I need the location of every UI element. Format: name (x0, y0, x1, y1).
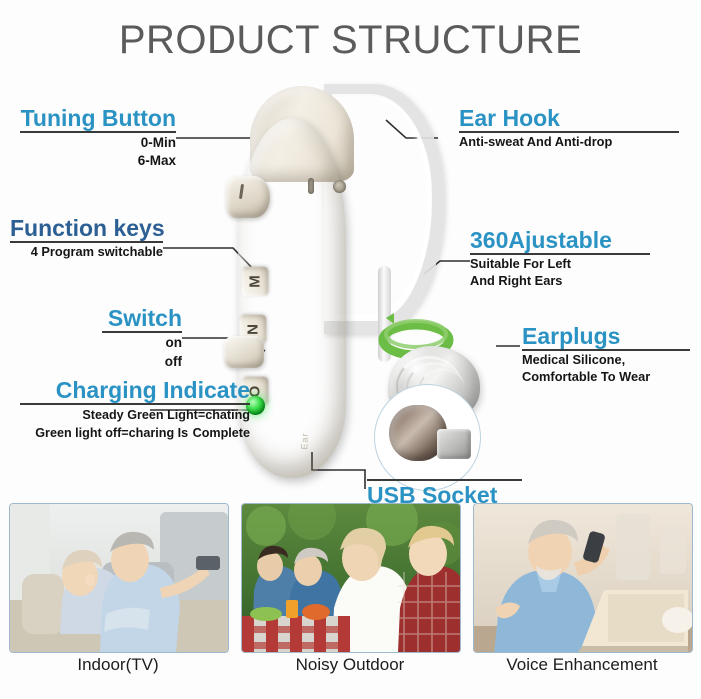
callout-sub-line2: off (165, 354, 182, 369)
callout-rule (522, 349, 690, 351)
callout-sub-line2: 6-Max (138, 153, 176, 168)
callout-ear-hook: Ear Hook Anti-sweat And Anti-drop (459, 106, 679, 150)
use-case-photo-voice[interactable] (473, 503, 693, 653)
callout-rule (10, 241, 163, 243)
callout-sub-line1: 0-Min (141, 135, 176, 150)
callout-sub-line1: on (166, 335, 183, 350)
callout-sub-line2: And Right Ears (470, 274, 650, 288)
callout-charging-indicate: Charging Indicate Steady Green Light=cha… (20, 378, 250, 442)
callout-heading: Ear Hook (459, 106, 679, 130)
tuning-dial-control[interactable] (226, 176, 270, 218)
photo-caption-1: Indoor(TV) (9, 655, 227, 675)
callout-heading: Switch (102, 306, 182, 330)
callout-sub-line1: Steady Green Light=chating (82, 408, 250, 422)
callout-rule (470, 253, 650, 255)
callout-tuning-button: Tuning Button 0-Min 6-Max (20, 106, 176, 170)
callout-sub-line1: 4 Program switchable (31, 245, 163, 259)
callout-sub-line2: Green light off=charing Is (35, 426, 188, 440)
callout-360-adjustable: 360Ajustable Suitable For Left And Right… (470, 228, 650, 288)
callout-sub-line1: Medical Silicone, (522, 353, 690, 367)
callout-switch: Switch on off (102, 306, 182, 371)
page-title: PRODUCT STRUCTURE (0, 18, 701, 63)
infographic-canvas: PRODUCT STRUCTURE Ear M N O (0, 0, 701, 699)
use-case-gallery: Indoor(TV) Noisy Outdoor Voice Enhanceme… (0, 503, 701, 699)
callout-rule (367, 479, 522, 481)
callout-sub-line2: Comfortable To Wear (522, 370, 690, 384)
photo-caption-3: Voice Enhancement (473, 655, 691, 675)
brand-mark: Ear (299, 432, 310, 449)
device-body-shell: Ear (238, 118, 346, 478)
callout-rule (459, 131, 679, 133)
callout-sub-line3: Complete (193, 426, 250, 440)
callout-rule (20, 403, 250, 405)
callout-function-keys: Function keys 4 Program switchable (10, 216, 163, 261)
photo-caption-2: Noisy Outdoor (241, 655, 459, 675)
use-case-photo-outdoor[interactable] (241, 503, 461, 653)
callout-heading: Tuning Button (20, 106, 176, 130)
callout-heading: Earplugs (522, 324, 690, 348)
callout-heading: 360Ajustable (470, 228, 650, 252)
microphone-port-round-icon (333, 180, 346, 193)
use-case-photo-indoor[interactable] (9, 503, 229, 653)
usb-plug-tip (437, 429, 471, 459)
callout-heading: Function keys (10, 216, 163, 240)
function-key-m[interactable]: M (242, 267, 269, 297)
callout-sub-line1: Anti-sweat And Anti-drop (459, 135, 679, 149)
power-switch-control[interactable] (224, 336, 264, 368)
microphone-port-icon (308, 178, 314, 194)
callout-heading: Charging Indicate (20, 378, 250, 402)
callout-rule (102, 331, 182, 333)
callout-rule (20, 131, 176, 133)
usb-socket-inset (374, 384, 481, 491)
callout-earplugs: Earplugs Medical Silicone, Comfortable T… (522, 324, 690, 384)
callout-sub-line1: Suitable For Left (470, 257, 650, 271)
